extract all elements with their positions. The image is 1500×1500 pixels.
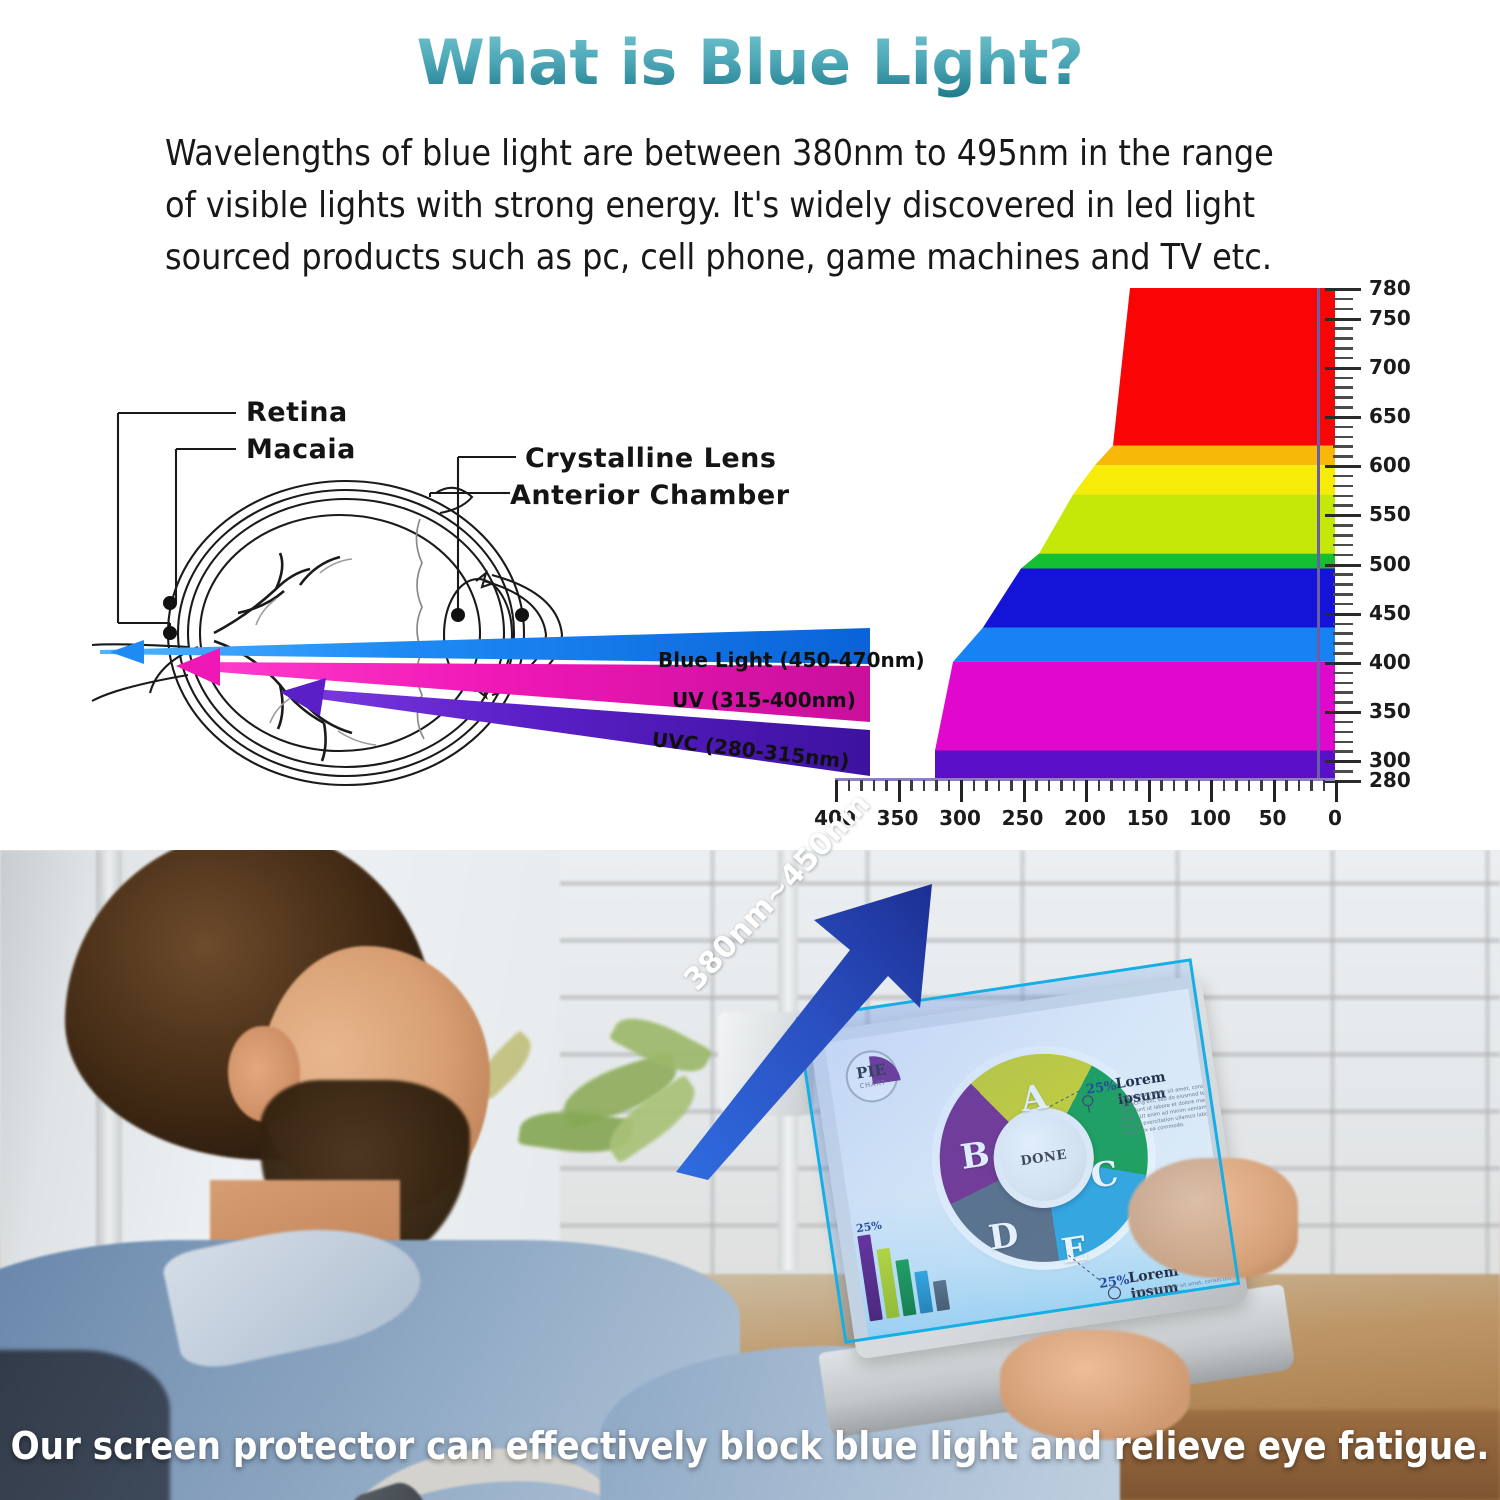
axis-tick-major (1335, 780, 1338, 802)
axis-tick-major (960, 780, 963, 802)
band-violet (935, 750, 1335, 780)
axis-tick-minor (1333, 524, 1353, 527)
axis-tick-minor (1310, 780, 1313, 791)
axis-tick-major (1210, 780, 1213, 802)
axis-tick-major (835, 780, 838, 802)
axis-tick-minor (935, 780, 938, 791)
axis-tick-minor (1098, 780, 1101, 791)
axis-tick-major (1325, 367, 1361, 370)
axis-tick-minor (1333, 396, 1353, 399)
axis-tick-minor (1333, 731, 1353, 734)
axis-tick-minor (1035, 780, 1038, 791)
axis-tick-major (898, 780, 901, 802)
axis-tick-minor (1333, 475, 1353, 478)
page-title: What is Blue Light? (0, 26, 1500, 99)
axis-tick-minor (885, 780, 888, 791)
axis-tick-label: 600 (1369, 453, 1411, 477)
axis-tick-major (1325, 711, 1361, 714)
axis-tick-minor (1333, 623, 1353, 626)
axis-spine-vertical (1317, 288, 1320, 780)
axis-tick-major (1325, 613, 1361, 616)
axis-tick-label: 500 (1369, 552, 1411, 576)
intro-line-2: of visible lights with strong energy. It… (165, 180, 1350, 232)
axis-tick-major (1023, 780, 1026, 802)
axis-tick-minor (1333, 672, 1353, 675)
axis-tick-label: 450 (1369, 601, 1411, 625)
axis-tick-minor (1333, 593, 1353, 596)
axis-tick-major (1325, 416, 1361, 419)
axis-tick-minor (1333, 436, 1353, 439)
axis-tick-minor (1160, 780, 1163, 791)
axis-tick-minor (1333, 298, 1353, 301)
axis-tick-minor (973, 780, 976, 791)
axis-tick-major (1325, 318, 1361, 321)
axis-tick-minor (1235, 780, 1238, 791)
axis-tick-label: 50 (1259, 806, 1287, 830)
energy-axis: 400350300250200150100500 (835, 778, 1335, 838)
axis-tick-minor (1333, 642, 1353, 645)
axis-tick-minor (1060, 780, 1063, 791)
axis-tick-minor (1333, 741, 1353, 744)
beam-label-uv: UV (315-400nm) (672, 688, 856, 712)
eye-label-crystalline-lens: Crystalline Lens (525, 443, 776, 474)
axis-tick-minor (1333, 377, 1353, 380)
axis-tick-label: 750 (1369, 306, 1411, 330)
axis-tick-minor (1333, 691, 1353, 694)
axis-tick-label: 300 (939, 806, 981, 830)
axis-tick-major (1325, 760, 1361, 763)
blue-light-explainer-panel: What is Blue Light? Wavelengths of blue … (0, 0, 1500, 850)
axis-tick-label: 350 (1369, 699, 1411, 723)
axis-tick-major (1325, 465, 1361, 468)
axis-tick-minor (1223, 780, 1226, 791)
spectrum-bands (835, 288, 1335, 780)
band-blue (983, 568, 1335, 627)
axis-tick-minor (1285, 780, 1288, 791)
axis-tick-minor (1333, 455, 1353, 458)
axis-tick-minor (1333, 495, 1353, 498)
eye-label-macaia: Macaia (246, 434, 356, 465)
axis-tick-minor (1248, 780, 1251, 791)
intro-paragraph: Wavelengths of blue light are between 38… (165, 128, 1350, 284)
axis-tick-label: 280 (1369, 768, 1411, 792)
wavelength-axis: 780750700650600550500450400350300280 (1315, 288, 1455, 788)
band-orange (1095, 445, 1335, 465)
axis-tick-label: 350 (877, 806, 919, 830)
axis-tick-minor (923, 780, 926, 791)
person-at-desk (0, 850, 720, 1500)
axis-tick-minor (873, 780, 876, 791)
axis-tick-minor (1333, 652, 1353, 655)
arrow-shape (676, 884, 932, 1180)
axis-tick-minor (1333, 603, 1353, 606)
axis-tick-minor (1123, 780, 1126, 791)
axis-tick-major (1325, 288, 1361, 291)
axis-tick-minor (1298, 780, 1301, 791)
axis-tick-minor (1333, 347, 1353, 350)
photo-caption: Our screen protector can effectively blo… (0, 1424, 1500, 1468)
axis-tick-minor (910, 780, 913, 791)
axis-tick-minor (1333, 632, 1353, 635)
axis-tick-minor (985, 780, 988, 791)
axis-tick-minor (1333, 682, 1353, 685)
axis-tick-minor (1110, 780, 1113, 791)
axis-tick-minor (1333, 770, 1353, 773)
band-magenta (935, 662, 1335, 751)
axis-tick-minor (1323, 780, 1326, 791)
axis-tick-major (1325, 514, 1361, 517)
axis-tick-label: 100 (1189, 806, 1231, 830)
axis-tick-minor (1333, 357, 1353, 360)
axis-tick-minor (1333, 337, 1353, 340)
axis-tick-minor (1333, 327, 1353, 330)
axis-tick-minor (1173, 780, 1176, 791)
axis-tick-label: 700 (1369, 355, 1411, 379)
axis-tick-major (1325, 662, 1361, 665)
axis-tick-minor (1333, 308, 1353, 311)
band-yellow (1073, 465, 1335, 495)
axis-tick-minor (1048, 780, 1051, 791)
band-azure (953, 627, 1335, 661)
axis-tick-label: 200 (1064, 806, 1106, 830)
axis-tick-minor (1135, 780, 1138, 791)
axis-tick-minor (1333, 721, 1353, 724)
axis-tick-label: 150 (1127, 806, 1169, 830)
axis-tick-minor (1333, 406, 1353, 409)
axis-tick-minor (1073, 780, 1076, 791)
axis-tick-minor (1333, 701, 1353, 704)
marketing-infographic: What is Blue Light? Wavelengths of blue … (0, 0, 1500, 1500)
axis-tick-minor (1333, 445, 1353, 448)
spectrum-wavelength-chart: 780750700650600550500450400350300280 400… (835, 288, 1455, 838)
band-red (1113, 288, 1335, 445)
axis-tick-label: 780 (1369, 276, 1411, 300)
axis-tick-minor (1010, 780, 1013, 791)
light-penetration-beams: Blue Light (450-470nm) UV (315-400nm) UV… (80, 600, 870, 810)
axis-tick-major (1085, 780, 1088, 802)
intro-line-1: Wavelengths of blue light are between 38… (165, 128, 1350, 180)
axis-tick-minor (1333, 504, 1353, 507)
intro-line-3: sourced products such as pc, cell phone,… (165, 232, 1350, 284)
axis-tick-minor (1333, 573, 1353, 576)
axis-tick-minor (1333, 534, 1353, 537)
axis-tick-major (1273, 780, 1276, 802)
axis-tick-minor (1333, 750, 1353, 753)
eye-label-retina: Retina (246, 397, 348, 428)
axis-tick-minor (1185, 780, 1188, 791)
axis-tick-minor (1333, 583, 1353, 586)
axis-tick-label: 400 (1369, 650, 1411, 674)
axis-tick-minor (998, 780, 1001, 791)
axis-tick-minor (1333, 426, 1353, 429)
band-yellow-green (1039, 495, 1335, 554)
axis-tick-minor (1333, 485, 1353, 488)
eye-label-anterior-chamber: Anterior Chamber (510, 480, 790, 511)
axis-tick-label: 650 (1369, 404, 1411, 428)
axis-tick-minor (948, 780, 951, 791)
axis-tick-label: 250 (1002, 806, 1044, 830)
axis-tick-major (1325, 564, 1361, 567)
axis-tick-major (1148, 780, 1151, 802)
axis-tick-minor (1333, 544, 1353, 547)
axis-tick-label: 0 (1328, 806, 1342, 830)
spectrum-bands-svg (835, 288, 1335, 780)
band-green (1021, 554, 1335, 569)
axis-tick-minor (1333, 554, 1353, 557)
axis-tick-minor (1198, 780, 1201, 791)
axis-tick-minor (860, 780, 863, 791)
axis-tick-minor (1333, 386, 1353, 389)
axis-tick-label: 550 (1369, 502, 1411, 526)
axis-tick-minor (1260, 780, 1263, 791)
